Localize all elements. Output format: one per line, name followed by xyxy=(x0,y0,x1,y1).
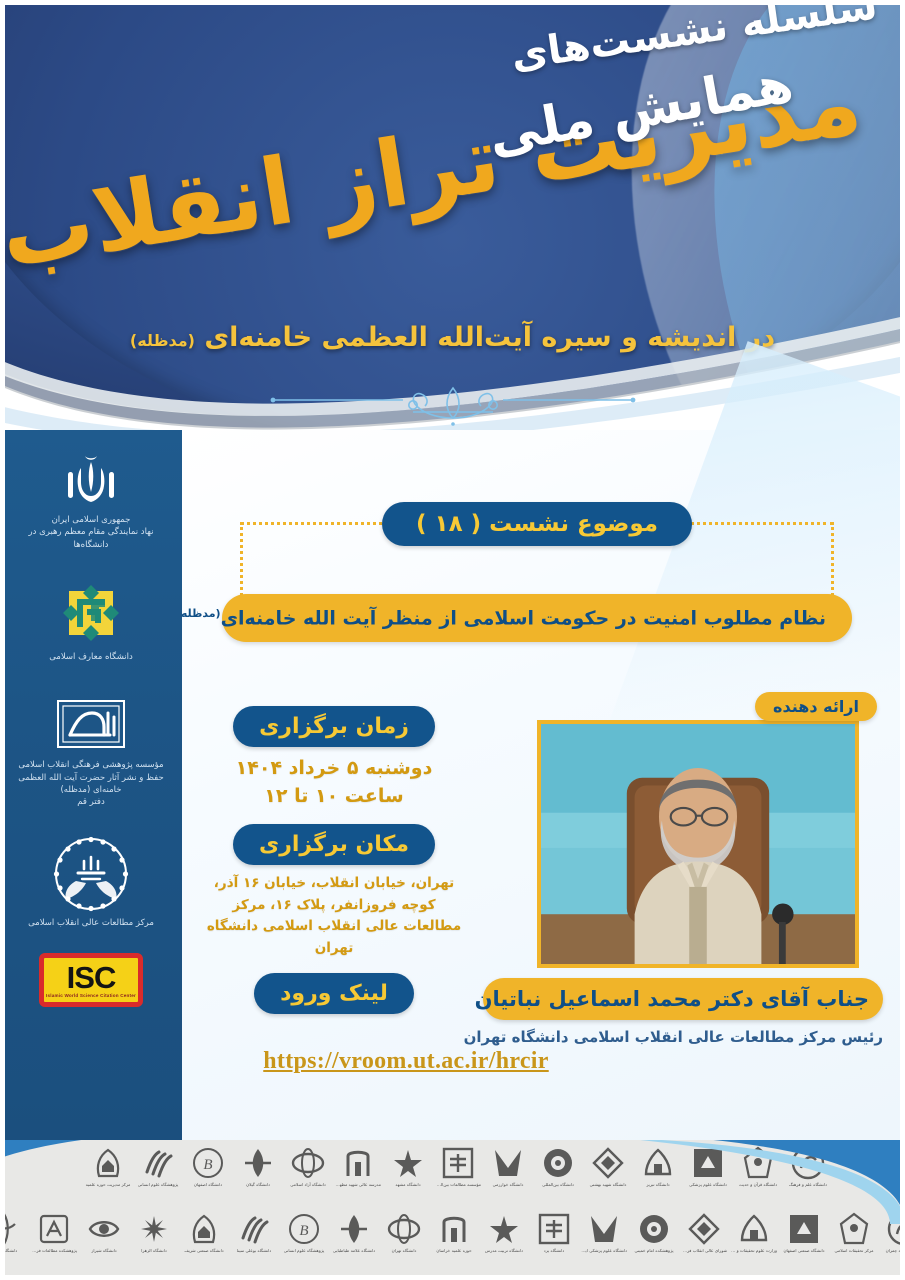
footer-logo-caption: دانشگاه اصفهان xyxy=(185,1182,231,1187)
footer-logo-caption: دانشگاه قرآن و حدیث xyxy=(735,1182,781,1187)
footer-logo-item: دانشگاه علوم پزشکی xyxy=(686,1146,730,1187)
footer-logo-item: دانشگاه تربیت مدرس xyxy=(482,1212,526,1253)
university-logo-icon xyxy=(691,1146,725,1180)
sidebar-logo-iran: جمهوری اسلامی ایران نهاد نمایندگی مقام م… xyxy=(0,452,182,551)
university-of-tehran-icon xyxy=(52,835,130,913)
footer-logo-caption: دانشگاه علوم پزشکی xyxy=(685,1182,731,1187)
university-logo-icon xyxy=(741,1146,775,1180)
footer-logo-caption: پژوهشکده امام خمینی xyxy=(631,1248,677,1253)
footer-logo-caption: دانشگاه گیلان xyxy=(235,1182,281,1187)
footer-logo-caption: حوزه علمیه خراسان xyxy=(431,1248,477,1253)
time-label-badge: زمان برگزاری xyxy=(233,706,435,747)
university-logo-icon xyxy=(0,1212,21,1246)
footer-logo-row-1: دانشگاه علم و فرهنگدانشگاه قرآن و حدیثدا… xyxy=(108,1146,808,1187)
footer-logo-item: مرکز مدیریت حوزه علمیه xyxy=(86,1146,130,1187)
footer-logo-item: حوزه علمیه خراسان xyxy=(432,1212,476,1253)
poster-header: سلسله نشست‌های همایش ملی مدیریت تراز انق… xyxy=(0,0,905,440)
university-logo-icon xyxy=(337,1212,371,1246)
footer-logo-caption: دانشگاه تهران xyxy=(381,1248,427,1253)
event-hours: ساعت ۱۰ تا ۱۲ xyxy=(204,783,464,811)
footer-logo-item: دانشگاه آزاد اسلامی xyxy=(286,1146,330,1187)
isc-badge-icon: ISC Islamic World Science Citation Cente… xyxy=(39,953,143,1007)
footer-logo-item: دانشگاه تبریز xyxy=(636,1146,680,1187)
isc-sub-text: Islamic World Science Citation Center xyxy=(46,994,136,999)
floral-divider-icon xyxy=(0,384,905,428)
footer-logo-item: مرکز تحقیقات اسلامی xyxy=(832,1212,876,1253)
kufic-square-icon xyxy=(57,579,125,647)
footer-logo-item: دانشگاه یزد xyxy=(532,1212,576,1253)
university-logo-icon xyxy=(341,1146,375,1180)
session-topic-text: نظام مطلوب امنیت در حکومت اسلامی از منظر… xyxy=(222,594,852,642)
footer-logo-caption: دانشگاه صنعتی اصفهان xyxy=(781,1248,827,1253)
footer-logo-caption: مدرسه عالی شهید مطهری xyxy=(335,1182,381,1187)
sidebar-logo-isc: ISC Islamic World Science Citation Cente… xyxy=(0,953,182,1007)
footer-logo-caption: دانشگاه یزد xyxy=(531,1248,577,1253)
footer-logo-caption: دانشگاه علم و فرهنگ xyxy=(785,1182,831,1187)
university-logo-icon xyxy=(641,1146,675,1180)
footer-logo-caption: پژوهشگاه علوم انسانی xyxy=(135,1182,181,1187)
session-topic-badge: موضوع نشست ( ۱۸ ) xyxy=(382,502,692,546)
footer-logo-row-2: دانشگاه شهید چمرانمرکز تحقیقات اسلامیدان… xyxy=(14,1212,894,1253)
university-logo-icon xyxy=(487,1212,521,1246)
footer-logo-caption: مرکز تحقیقات اسلامی xyxy=(831,1248,877,1253)
footer-logo-item: دانشگاه صنعتی اصفهان xyxy=(782,1212,826,1253)
footer-logo-item: دانشگاه علامه طباطبایی xyxy=(332,1212,376,1253)
footer-logo-item: مدرسه عالی شهید مطهری xyxy=(336,1146,380,1187)
university-logo-icon: B xyxy=(191,1146,225,1180)
sidebar-logo-maaref: دانشگاه معارف اسلامی xyxy=(0,579,182,663)
university-logo-icon xyxy=(687,1212,721,1246)
footer-logo-caption: دانشگاه بین‌المللی xyxy=(535,1182,581,1187)
footer-logo-caption: دانشگاه تربیت مدرس xyxy=(481,1248,527,1253)
place-label-badge: مکان برگزاری xyxy=(233,824,435,865)
university-logo-icon xyxy=(387,1212,421,1246)
footer-logo-caption: مرکز مدیریت حوزه علمیه xyxy=(85,1182,131,1187)
footer-logo-item: دانشگاه صنعتی شریف xyxy=(182,1212,226,1253)
footer-logo-caption: دانشگاه شیراز xyxy=(81,1248,127,1253)
university-logo-icon: B xyxy=(287,1212,321,1246)
entry-link-url[interactable]: https://vroom.ut.ac.ir/hrcir xyxy=(196,1048,616,1075)
footer-logo-caption: دانشگاه صنعتی شریف xyxy=(181,1248,227,1253)
footer-logo-caption: دانشگاه علامه طباطبایی xyxy=(331,1248,377,1253)
footer-logo-item: دانشگاه الزهرا xyxy=(132,1212,176,1253)
university-logo-icon xyxy=(537,1212,571,1246)
sponsor-sidebar: جمهوری اسلامی ایران نهاد نمایندگی مقام م… xyxy=(0,430,182,1140)
university-logo-icon xyxy=(637,1212,671,1246)
university-logo-icon xyxy=(87,1212,121,1246)
footer-logo-item: دانشگاه بین‌المللی xyxy=(536,1146,580,1187)
footer-logo-caption: دانشگاه بوعلی سینا xyxy=(231,1248,277,1253)
header-subtitle: در اندیشه و سیره آیت‌الله العظمی خامنه‌ا… xyxy=(0,322,905,353)
university-logo-icon xyxy=(241,1146,275,1180)
session-topic-suffix: (مدظله) xyxy=(176,607,221,620)
revolution-institute-icon xyxy=(48,695,134,755)
footer-logo-item: دانشگاه شهید بهشتی xyxy=(586,1146,630,1187)
university-logo-icon xyxy=(591,1146,625,1180)
sidebar-logo-iran-caption: جمهوری اسلامی ایران نهاد نمایندگی مقام م… xyxy=(11,514,171,551)
university-logo-icon xyxy=(791,1146,825,1180)
sponsor-footer: دانشگاه علم و فرهنگدانشگاه قرآن و حدیثدا… xyxy=(0,1140,905,1280)
university-logo-icon xyxy=(587,1212,621,1246)
footer-logo-item: مؤسسه مطالعات بین‌المللی xyxy=(436,1146,480,1187)
event-address: تهران، خیابان انقلاب، خیابان ۱۶ آذر، کوچ… xyxy=(204,873,464,959)
sidebar-logo-institute-caption: مؤسسه پژوهشی فرهنگی انقلاب اسلامی حفظ و … xyxy=(11,759,171,808)
footer-logo-caption: پژوهشکده مطالعات فرهنگی xyxy=(31,1248,77,1253)
university-logo-icon xyxy=(391,1146,425,1180)
footer-logo-item: پژوهشگاه علوم انسانی xyxy=(136,1146,180,1187)
university-logo-icon xyxy=(491,1146,525,1180)
entry-link-badge[interactable]: لینک ورود xyxy=(254,973,414,1014)
university-logo-icon xyxy=(91,1146,125,1180)
footer-logo-item: شورای عالی انقلاب فرهنگی xyxy=(682,1212,726,1253)
sidebar-logo-institute: مؤسسه پژوهشی فرهنگی انقلاب اسلامی حفظ و … xyxy=(0,695,182,808)
event-date: دوشنبه ۵ خرداد ۱۴۰۴ xyxy=(204,755,464,783)
footer-logo-caption: دانشگاه الزهرا xyxy=(131,1248,177,1253)
conference-poster: سلسله نشست‌های همایش ملی مدیریت تراز انق… xyxy=(0,0,905,1280)
header-subtitle-text: در اندیشه و سیره آیت‌الله العظمی خامنه‌ا… xyxy=(204,322,775,353)
footer-logo-item: دانشگاه علم و فرهنگ xyxy=(786,1146,830,1187)
footer-logo-caption: دانشگاه سمنان xyxy=(0,1248,27,1253)
university-logo-icon xyxy=(187,1212,221,1246)
footer-logo-caption: دانشگاه مشهد xyxy=(385,1182,431,1187)
university-logo-icon xyxy=(541,1146,575,1180)
footer-logo-caption: دانشگاه تبریز xyxy=(635,1182,681,1187)
header-subtitle-suffix: (مدظله) xyxy=(130,331,195,350)
university-logo-icon xyxy=(437,1212,471,1246)
footer-logo-item: دانشگاه شهید چمران xyxy=(882,1212,905,1253)
footer-logo-item: دانشگاه خوارزمی xyxy=(486,1146,530,1187)
iran-emblem-icon xyxy=(58,452,124,510)
university-logo-icon xyxy=(887,1212,905,1246)
footer-logo-item: دانشگاه قرآن و حدیث xyxy=(736,1146,780,1187)
isc-main-text: ISC xyxy=(67,962,116,993)
footer-logo-item: دانشگاه شیراز xyxy=(82,1212,126,1253)
university-logo-icon xyxy=(137,1212,171,1246)
footer-logo-item: Bدانشگاه اصفهان xyxy=(186,1146,230,1187)
speaker-name: جناب آقای دکتر محمد اسماعیل نباتیان xyxy=(483,978,883,1020)
footer-logo-item: دانشگاه تهران xyxy=(382,1212,426,1253)
footer-logo-item: دانشگاه گیلان xyxy=(236,1146,280,1187)
sidebar-logo-ut: مرکز مطالعات عالی انقلاب اسلامی xyxy=(0,835,182,929)
footer-logo-item: دانشگاه بوعلی سینا xyxy=(232,1212,276,1253)
footer-logo-item: Bپژوهشگاه علوم انسانی xyxy=(282,1212,326,1253)
poster-body: موضوع نشست ( ۱۸ ) نظام مطلوب امنیت در حک… xyxy=(182,430,905,1140)
footer-logo-item: پژوهشکده مطالعات فرهنگی xyxy=(32,1212,76,1253)
sidebar-logo-maaref-caption: دانشگاه معارف اسلامی xyxy=(11,651,171,663)
session-topic-main: نظام مطلوب امنیت در حکومت اسلامی از منظر… xyxy=(221,607,826,629)
footer-logo-caption: دانشگاه علوم پزشکی ایران xyxy=(581,1248,627,1253)
footer-logo-caption: دانشگاه شهید چمران xyxy=(881,1248,905,1253)
footer-logo-item: دانشگاه علوم پزشکی ایران xyxy=(582,1212,626,1253)
event-info-column: زمان برگزاری دوشنبه ۵ خرداد ۱۴۰۴ ساعت ۱۰… xyxy=(204,706,464,1022)
speaker-role: رئیس مرکز مطالعات عالی انقلاب اسلامی دان… xyxy=(483,1028,883,1046)
footer-logo-item: دانشگاه سمنان xyxy=(0,1212,26,1253)
footer-logo-caption: پژوهشگاه علوم انسانی xyxy=(281,1248,327,1253)
footer-logo-caption: شورای عالی انقلاب فرهنگی xyxy=(681,1248,727,1253)
footer-logo-item: دانشگاه مشهد xyxy=(386,1146,430,1187)
event-datetime: دوشنبه ۵ خرداد ۱۴۰۴ ساعت ۱۰ تا ۱۲ xyxy=(204,755,464,810)
university-logo-icon xyxy=(141,1146,175,1180)
footer-logo-item: پژوهشکده امام خمینی xyxy=(632,1212,676,1253)
footer-logo-caption: وزارت علوم تحقیقات و فناوری xyxy=(731,1248,777,1253)
footer-logo-caption: دانشگاه شهید بهشتی xyxy=(585,1182,631,1187)
university-logo-icon xyxy=(737,1212,771,1246)
svg-text:B: B xyxy=(299,1223,308,1239)
svg-text:B: B xyxy=(203,1157,212,1173)
sidebar-logo-ut-caption: مرکز مطالعات عالی انقلاب اسلامی xyxy=(11,917,171,929)
university-logo-icon xyxy=(787,1212,821,1246)
university-logo-icon xyxy=(837,1212,871,1246)
footer-logo-item: وزارت علوم تحقیقات و فناوری xyxy=(732,1212,776,1253)
presenter-label-badge: ارائه دهنده xyxy=(755,692,877,721)
university-logo-icon xyxy=(237,1212,271,1246)
speaker-photo xyxy=(537,720,859,968)
university-logo-icon xyxy=(37,1212,71,1246)
university-logo-icon xyxy=(291,1146,325,1180)
footer-logo-caption: مؤسسه مطالعات بین‌المللی xyxy=(435,1182,481,1187)
footer-logo-caption: دانشگاه خوارزمی xyxy=(485,1182,531,1187)
university-logo-icon xyxy=(441,1146,475,1180)
footer-logo-caption: دانشگاه آزاد اسلامی xyxy=(285,1182,331,1187)
